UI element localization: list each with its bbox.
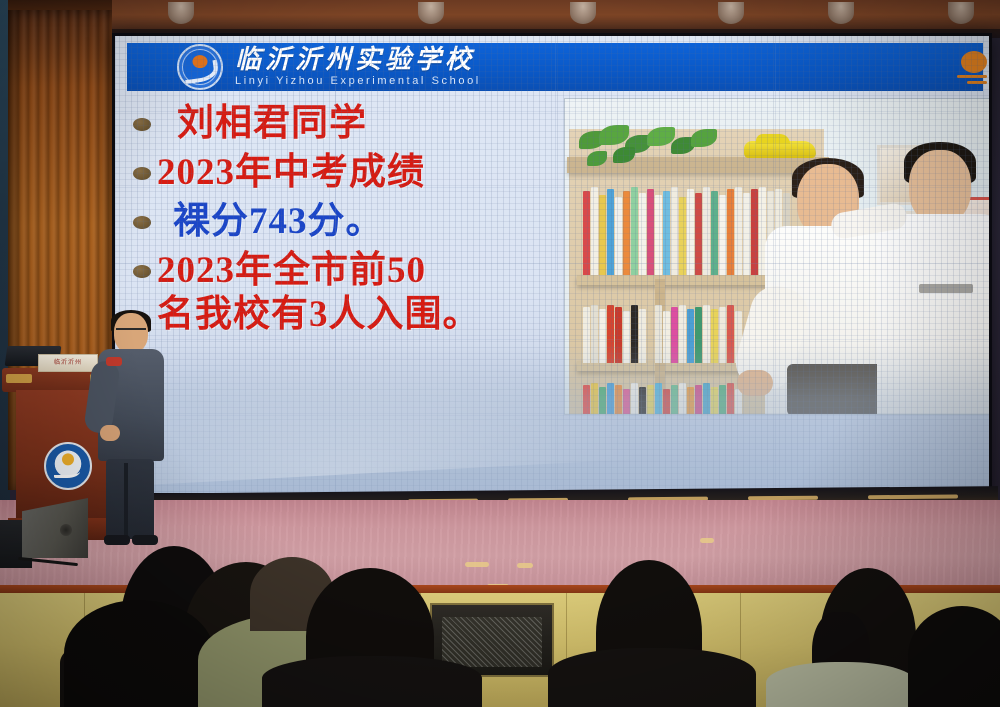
trousers bbox=[106, 459, 154, 539]
school-name-en: Linyi Yizhou Experimental School bbox=[235, 76, 481, 87]
bullet-item: 2023年中考成绩 bbox=[133, 151, 563, 195]
downlight-icon bbox=[418, 2, 444, 24]
led-screen: 临沂沂州实验学校 Linyi Yizhou Experimental Schoo… bbox=[115, 36, 989, 493]
school-emblem-icon bbox=[44, 442, 92, 490]
bullet-text: 2023年全市前50 bbox=[157, 249, 481, 293]
tshirt-print bbox=[919, 284, 973, 293]
audience-head bbox=[908, 606, 1000, 707]
book-row bbox=[583, 379, 742, 415]
slide-photo bbox=[564, 98, 989, 415]
trousers bbox=[787, 364, 887, 415]
bullet-text: 裸分743分。 bbox=[173, 200, 384, 244]
audience-head bbox=[64, 600, 214, 707]
glasses-icon bbox=[116, 328, 146, 337]
floor-reflection bbox=[465, 562, 489, 567]
downlight-icon bbox=[828, 2, 854, 24]
shoe bbox=[132, 535, 158, 545]
nameplate-text: 临沂沂州 bbox=[39, 355, 97, 371]
microphone-icon bbox=[106, 357, 122, 366]
potted-plant-icon bbox=[579, 125, 729, 177]
downlight-icon bbox=[570, 2, 596, 24]
speaker-cone-icon bbox=[60, 524, 72, 536]
bullet-dot-icon bbox=[133, 216, 151, 229]
shoe bbox=[104, 535, 130, 545]
face bbox=[909, 150, 971, 224]
downlight-icon bbox=[168, 2, 194, 24]
bullet-item: 2023年全市前50 名我校有3人入围。 bbox=[133, 249, 563, 337]
podium-nameplate: 临沂沂州 bbox=[38, 354, 98, 372]
banner-accent-icon bbox=[947, 47, 981, 87]
book-row bbox=[583, 301, 742, 363]
bullet-item: 刘相君同学 bbox=[133, 102, 563, 146]
bullet-dot-icon bbox=[133, 167, 151, 180]
slide-bullet-list: 刘相君同学 2023年中考成绩 裸分743分。 2023年全市前50 bbox=[133, 102, 563, 342]
bullet-text-wrap: 名我校有3人入围。 bbox=[157, 293, 481, 337]
hand bbox=[100, 425, 120, 441]
book-row bbox=[583, 185, 790, 275]
bullet-text: 刘相君同学 bbox=[177, 102, 367, 146]
downlight-icon bbox=[718, 2, 744, 24]
presentation-slide: 临沂沂州实验学校 Linyi Yizhou Experimental Schoo… bbox=[115, 36, 989, 493]
presenter-figure bbox=[96, 313, 166, 545]
bullet-item: 裸分743分。 bbox=[133, 200, 563, 244]
bullet-text: 2023年中考成绩 bbox=[157, 151, 425, 195]
hand bbox=[737, 370, 773, 396]
audience-shoulders bbox=[262, 656, 482, 707]
school-name-cn: 临沂沂州实验学校 bbox=[235, 47, 481, 73]
bullet-dot-icon bbox=[133, 118, 151, 131]
leg-gap bbox=[124, 463, 128, 537]
auditorium-photo: 临沂沂州实验学校 Linyi Yizhou Experimental Schoo… bbox=[0, 0, 1000, 707]
audience-shoulders bbox=[548, 648, 756, 707]
audience-shoulders bbox=[766, 662, 916, 707]
toy-car-icon bbox=[744, 141, 816, 158]
student-boy-figure bbox=[883, 144, 989, 414]
bullet-dot-icon bbox=[133, 265, 151, 278]
floor-reflection bbox=[700, 538, 714, 543]
white-tshirt bbox=[877, 214, 989, 414]
floor-reflection bbox=[517, 563, 533, 568]
school-crest-icon bbox=[177, 44, 223, 90]
led-screen-frame: 临沂沂州实验学校 Linyi Yizhou Experimental Schoo… bbox=[112, 33, 992, 496]
school-name-block: 临沂沂州实验学校 Linyi Yizhou Experimental Schoo… bbox=[235, 47, 481, 87]
downlight-icon bbox=[948, 2, 974, 24]
slide-header-banner: 临沂沂州实验学校 Linyi Yizhou Experimental Schoo… bbox=[127, 43, 983, 91]
